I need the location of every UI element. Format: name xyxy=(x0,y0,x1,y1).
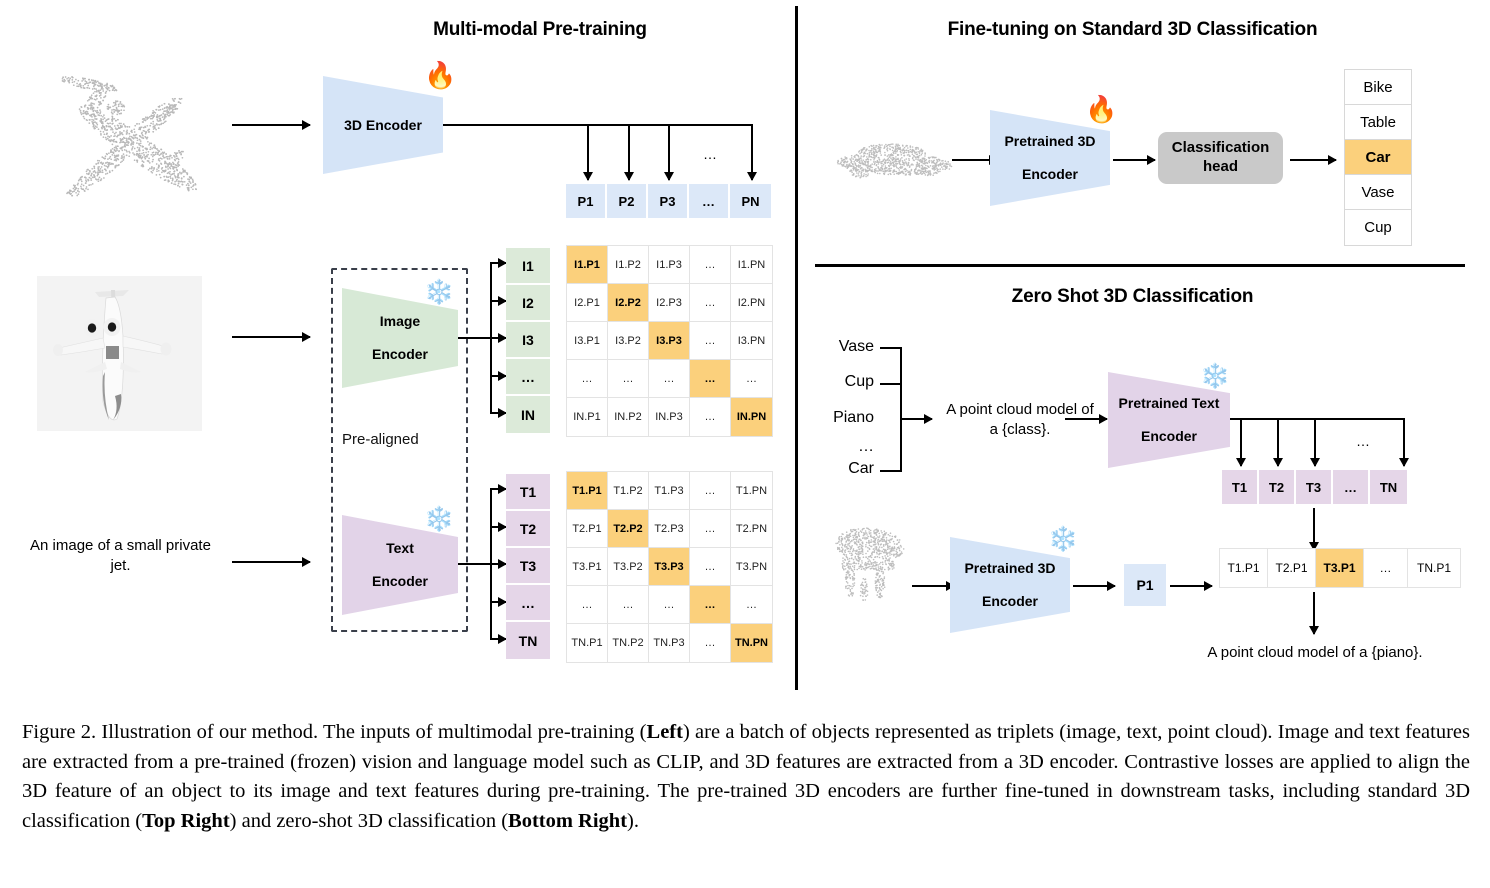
jet-render-image xyxy=(37,276,202,431)
class-item-vase[interactable]: Vase xyxy=(1345,175,1411,210)
label-t3: T3 xyxy=(506,548,550,585)
matrix-row: … … … … … xyxy=(567,586,772,624)
matrix-row: T3.P1 T3.P2 T3.P3 … T3.PN xyxy=(567,548,772,586)
label-t-ellipsis: … xyxy=(506,585,550,622)
arrow-to-zs-t2 xyxy=(1277,418,1279,466)
classification-head-box: Classification head xyxy=(1158,132,1283,184)
arrow-to-t3 xyxy=(490,563,506,565)
score-cell-ellipsis: … xyxy=(1364,549,1408,587)
zs-class-ellipsis: … xyxy=(806,438,874,456)
panel-title-finetuning: Fine-tuning on Standard 3D Classificatio… xyxy=(800,19,1465,41)
matrix-row: IN.P1 IN.P2 IN.P3 … IN.PN xyxy=(567,398,772,436)
matrix-cell: T1.PN xyxy=(731,472,772,510)
class-item-cup[interactable]: Cup xyxy=(1345,210,1411,245)
arrow-image-to-encoder xyxy=(232,336,310,338)
matrix-cell: … xyxy=(690,510,731,548)
matrix-row: T1.P1 T1.P2 T1.P3 … T1.PN xyxy=(567,472,772,510)
fire-icon-finetuning: 🔥 xyxy=(1085,96,1117,122)
snowflake-icon-text-encoder: ❄️ xyxy=(424,508,454,532)
airplane-point-cloud xyxy=(20,48,230,228)
caption-bold-topright: Top Right xyxy=(142,810,230,832)
score-cell-tnp1: TN.P1 xyxy=(1408,549,1460,587)
text-point-similarity-matrix: T1.P1 T1.P2 T1.P3 … T1.PN T2.P1 T2.P2 T2… xyxy=(566,471,773,663)
score-cell-t2p1: T2.P1 xyxy=(1268,549,1316,587)
caption-bold-bottomright: Bottom Right xyxy=(508,810,627,832)
classification-head-label: Classification head xyxy=(1172,139,1270,177)
arrow-to-in xyxy=(490,412,506,414)
matrix-row: I3.P1 I3.P2 I3.P3 … I3.PN xyxy=(567,322,772,360)
image-label-column: I1 I2 I3 … IN xyxy=(506,248,550,433)
token-p-ellipsis: … xyxy=(689,184,730,218)
label-i3: I3 xyxy=(506,322,550,359)
matrix-cell: … xyxy=(690,360,731,398)
panel-title-pretraining: Multi-modal Pre-training xyxy=(285,19,795,41)
matrix-cell: T2.P2 xyxy=(608,510,649,548)
label-i2: I2 xyxy=(506,285,550,322)
t-branch-ellipsis: … xyxy=(1348,432,1378,451)
matrix-row: … … … … … xyxy=(567,360,772,398)
matrix-cell: TN.PN xyxy=(731,624,772,662)
label-i1: I1 xyxy=(506,248,550,285)
zs-class-cup: Cup xyxy=(806,373,874,391)
matrix-cell: … xyxy=(649,360,690,398)
matrix-cell: T1.P3 xyxy=(649,472,690,510)
label-tn: TN xyxy=(506,622,550,659)
label-i-ellipsis: … xyxy=(506,359,550,396)
matrix-cell: IN.P1 xyxy=(567,398,608,436)
matrix-cell: I1.P3 xyxy=(649,246,690,284)
matrix-cell: … xyxy=(690,246,731,284)
token-p2: P2 xyxy=(607,184,648,218)
matrix-cell: I1.P1 xyxy=(567,246,608,284)
bracket-tick-car xyxy=(880,470,902,472)
class-list-finetuning: Bike Table Car Vase Cup xyxy=(1344,69,1412,246)
token-pn: PN xyxy=(730,184,771,218)
p-branch-ellipsis: … xyxy=(695,145,725,164)
zeroshot-result-text: A point cloud model of a {piano}. xyxy=(1180,643,1450,663)
matrix-cell: T1.P2 xyxy=(608,472,649,510)
matrix-cell: … xyxy=(567,586,608,624)
bracket-spine xyxy=(900,347,902,472)
arrow-to-t-ellipsis xyxy=(490,601,506,603)
matrix-cell: I2.PN xyxy=(731,284,772,322)
matrix-cell: … xyxy=(690,548,731,586)
matrix-cell: … xyxy=(690,284,731,322)
label-t2: T2 xyxy=(506,511,550,548)
token-zs-t2: T2 xyxy=(1259,470,1296,504)
horizontal-divider xyxy=(815,264,1465,267)
bracket-tick-vase xyxy=(880,347,902,349)
arrow-to-pn xyxy=(751,124,753,180)
pretrained-3d-encoder-label-zs: Pretrained 3D Encoder xyxy=(964,560,1055,610)
arrow-piano-to-encoder xyxy=(912,585,954,587)
matrix-cell: … xyxy=(731,586,772,624)
image-encoder-label: Image Encoder xyxy=(372,313,428,363)
arrow-to-zs-t3 xyxy=(1314,418,1316,466)
arrow-encoder-to-p1-zs xyxy=(1073,585,1115,587)
image-point-similarity-matrix: I1.P1 I1.P2 I1.P3 … I1.PN I2.P1 I2.P2 I2… xyxy=(566,245,773,437)
matrix-row: T2.P1 T2.P2 T2.P3 … T2.PN xyxy=(567,510,772,548)
matrix-cell: I2.P1 xyxy=(567,284,608,322)
arrow-to-t2 xyxy=(490,526,506,528)
encoder-3d-trapezoid: 3D Encoder xyxy=(323,76,443,174)
arrow-to-tn xyxy=(490,638,506,640)
class-item-table[interactable]: Table xyxy=(1345,105,1411,140)
matrix-cell: IN.P2 xyxy=(608,398,649,436)
caption-bold-left: Left xyxy=(647,721,683,743)
image-fanout-stem xyxy=(458,337,492,339)
token-p3: P3 xyxy=(648,184,689,218)
caption-suffix: ). xyxy=(627,810,639,832)
label-t1: T1 xyxy=(506,474,550,511)
snowflake-icon-image-encoder: ❄️ xyxy=(424,281,454,305)
matrix-cell: … xyxy=(690,398,731,436)
zs-class-piano: Piano xyxy=(806,409,874,427)
matrix-cell: I3.P2 xyxy=(608,322,649,360)
matrix-cell: … xyxy=(690,586,731,624)
matrix-cell: T3.PN xyxy=(731,548,772,586)
matrix-row: TN.P1 TN.P2 TN.P3 … TN.PN xyxy=(567,624,772,662)
matrix-cell: T3.P1 xyxy=(567,548,608,586)
caption-prefix: Figure 2. Illustration of our method. Th… xyxy=(22,721,647,743)
arrow-to-i2 xyxy=(490,300,506,302)
token-zs-t3: T3 xyxy=(1296,470,1333,504)
piano-point-cloud xyxy=(828,520,918,605)
vertical-divider xyxy=(795,6,798,690)
zs-class-vase: Vase xyxy=(806,338,874,356)
arrow-to-p1 xyxy=(587,124,589,180)
matrix-cell: T3.P3 xyxy=(649,548,690,586)
matrix-cell: … xyxy=(731,360,772,398)
arrow-encoder-to-head xyxy=(1113,159,1155,161)
input-text-caption: An image of a small private jet. xyxy=(28,536,213,577)
class-item-car[interactable]: Car xyxy=(1345,140,1411,175)
matrix-cell: … xyxy=(649,586,690,624)
car-point-cloud xyxy=(830,128,960,190)
matrix-cell: IN.PN xyxy=(731,398,772,436)
token-zs-tn: TN xyxy=(1370,470,1407,504)
matrix-cell: IN.P3 xyxy=(649,398,690,436)
fire-icon-pretraining: 🔥 xyxy=(424,62,456,88)
pretrained-3d-encoder-label-tr: Pretrained 3D Encoder xyxy=(1004,133,1095,183)
snowflake-icon-3d-encoder-zs: ❄️ xyxy=(1048,528,1078,552)
prealigned-label: Pre-aligned xyxy=(342,431,419,448)
text-encoder-label: Text Encoder xyxy=(372,540,428,590)
matrix-cell: I3.P1 xyxy=(567,322,608,360)
arrow-to-zs-t1 xyxy=(1240,418,1242,466)
matrix-cell: I1.PN xyxy=(731,246,772,284)
pretrained-3d-encoder-trapezoid-tr: Pretrained 3D Encoder xyxy=(990,110,1110,206)
matrix-cell: … xyxy=(690,624,731,662)
zs-class-car: Car xyxy=(806,460,874,478)
matrix-cell: … xyxy=(690,472,731,510)
arrow-to-t1 xyxy=(490,488,506,490)
token-zs-t1: T1 xyxy=(1222,470,1259,504)
arrow-to-p2 xyxy=(628,124,630,180)
arrow-tokens-to-scores xyxy=(1313,508,1315,550)
score-cell-t3p1: T3.P1 xyxy=(1316,549,1364,587)
matrix-cell: I1.P2 xyxy=(608,246,649,284)
t-branch-trunk xyxy=(1230,418,1405,420)
arrow-text-to-encoder xyxy=(232,561,310,563)
arrow-to-i-ellipsis xyxy=(490,375,506,377)
arrow-prompt-to-text-encoder xyxy=(1065,418,1107,420)
matrix-cell: … xyxy=(608,360,649,398)
class-item-bike[interactable]: Bike xyxy=(1345,70,1411,105)
matrix-cell: I3.P3 xyxy=(649,322,690,360)
text-label-column: T1 T2 T3 … TN xyxy=(506,474,550,659)
matrix-row: I2.P1 I2.P2 I2.P3 … I2.PN xyxy=(567,284,772,322)
matrix-cell: T2.P1 xyxy=(567,510,608,548)
score-cell-t1p1: T1.P1 xyxy=(1220,549,1268,587)
arrow-to-i3 xyxy=(490,337,506,339)
matrix-cell: I2.P2 xyxy=(608,284,649,322)
snowflake-icon-text-encoder-zs: ❄️ xyxy=(1200,365,1230,389)
figure-caption: Figure 2. Illustration of our method. Th… xyxy=(22,718,1470,837)
encoder-3d-label: 3D Encoder xyxy=(344,117,422,134)
panel-title-zeroshot: Zero Shot 3D Classification xyxy=(800,286,1465,308)
figure-canvas: Multi-modal Pre-training Fine-tuning on … xyxy=(0,0,1490,700)
token-p1: P1 xyxy=(566,184,607,218)
matrix-cell: … xyxy=(690,322,731,360)
matrix-cell: T2.P3 xyxy=(649,510,690,548)
caption-mid2: ) and zero-shot 3D classification ( xyxy=(230,810,508,832)
arrow-classes-to-prompt xyxy=(900,418,932,420)
matrix-cell: T2.PN xyxy=(731,510,772,548)
text-token-row-zs: T1 T2 T3 … TN xyxy=(1222,470,1407,504)
arrow-to-i1 xyxy=(490,262,506,264)
zeroshot-score-row: T1.P1 T2.P1 T3.P1 … TN.P1 xyxy=(1219,548,1461,588)
token-zs-ellipsis: … xyxy=(1333,470,1370,504)
point-token-row: P1 P2 P3 … PN xyxy=(566,184,771,218)
matrix-cell: TN.P2 xyxy=(608,624,649,662)
label-in: IN xyxy=(506,396,550,433)
matrix-cell: … xyxy=(567,360,608,398)
prompt-template-text: A point cloud model of a {class}. xyxy=(931,400,1109,441)
pretrained-text-encoder-label: Pretrained Text Encoder xyxy=(1119,395,1220,445)
arrow-p1-to-scores xyxy=(1170,585,1212,587)
text-fanout-stem xyxy=(458,563,492,565)
bracket-tick-cup xyxy=(880,383,902,385)
matrix-row: I1.P1 I1.P2 I1.P3 … I1.PN xyxy=(567,246,772,284)
arrow-head-to-classes xyxy=(1290,159,1336,161)
arrow-to-p3 xyxy=(668,124,670,180)
point-token-p1-zs: P1 xyxy=(1124,564,1166,606)
matrix-cell: TN.P3 xyxy=(649,624,690,662)
matrix-cell: … xyxy=(608,586,649,624)
matrix-cell: T3.P2 xyxy=(608,548,649,586)
matrix-cell: I3.PN xyxy=(731,322,772,360)
arrow-to-zs-tn xyxy=(1403,418,1405,466)
matrix-cell: TN.P1 xyxy=(567,624,608,662)
p-branch-trunk xyxy=(443,124,753,126)
arrow-scores-to-result xyxy=(1313,592,1315,634)
matrix-cell: T1.P1 xyxy=(567,472,608,510)
matrix-cell: I2.P3 xyxy=(649,284,690,322)
arrow-pointcloud-to-encoder xyxy=(232,124,310,126)
